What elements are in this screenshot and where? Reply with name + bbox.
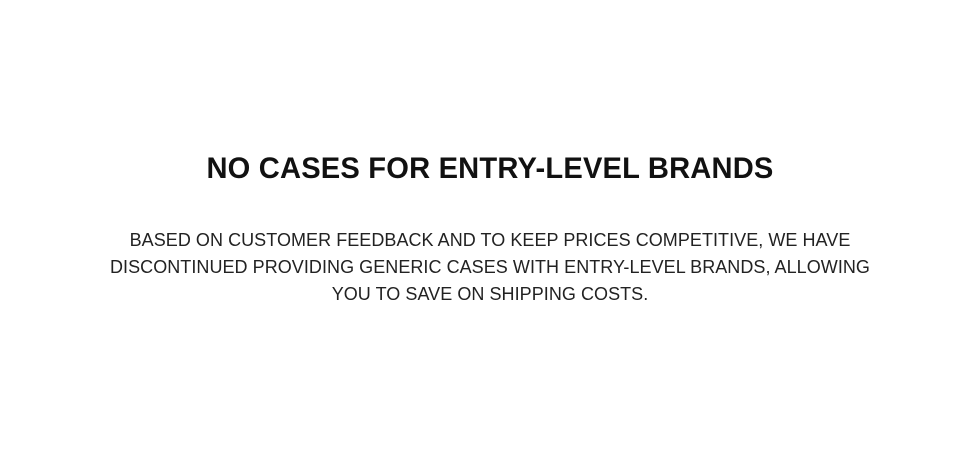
promo-body-line: YOU TO SAVE ON SHIPPING COSTS. — [97, 281, 883, 308]
promo-body-line: BASED ON CUSTOMER FEEDBACK AND TO KEEP P… — [97, 227, 883, 254]
promo-body-line: DISCONTINUED PROVIDING GENERIC CASES WIT… — [97, 254, 883, 281]
promo-body-text: BASED ON CUSTOMER FEEDBACK AND TO KEEP P… — [97, 227, 883, 308]
promo-banner: NO CASES FOR ENTRY-LEVEL BRANDS BASED ON… — [0, 0, 980, 450]
promo-heading: NO CASES FOR ENTRY-LEVEL BRANDS — [15, 152, 966, 186]
